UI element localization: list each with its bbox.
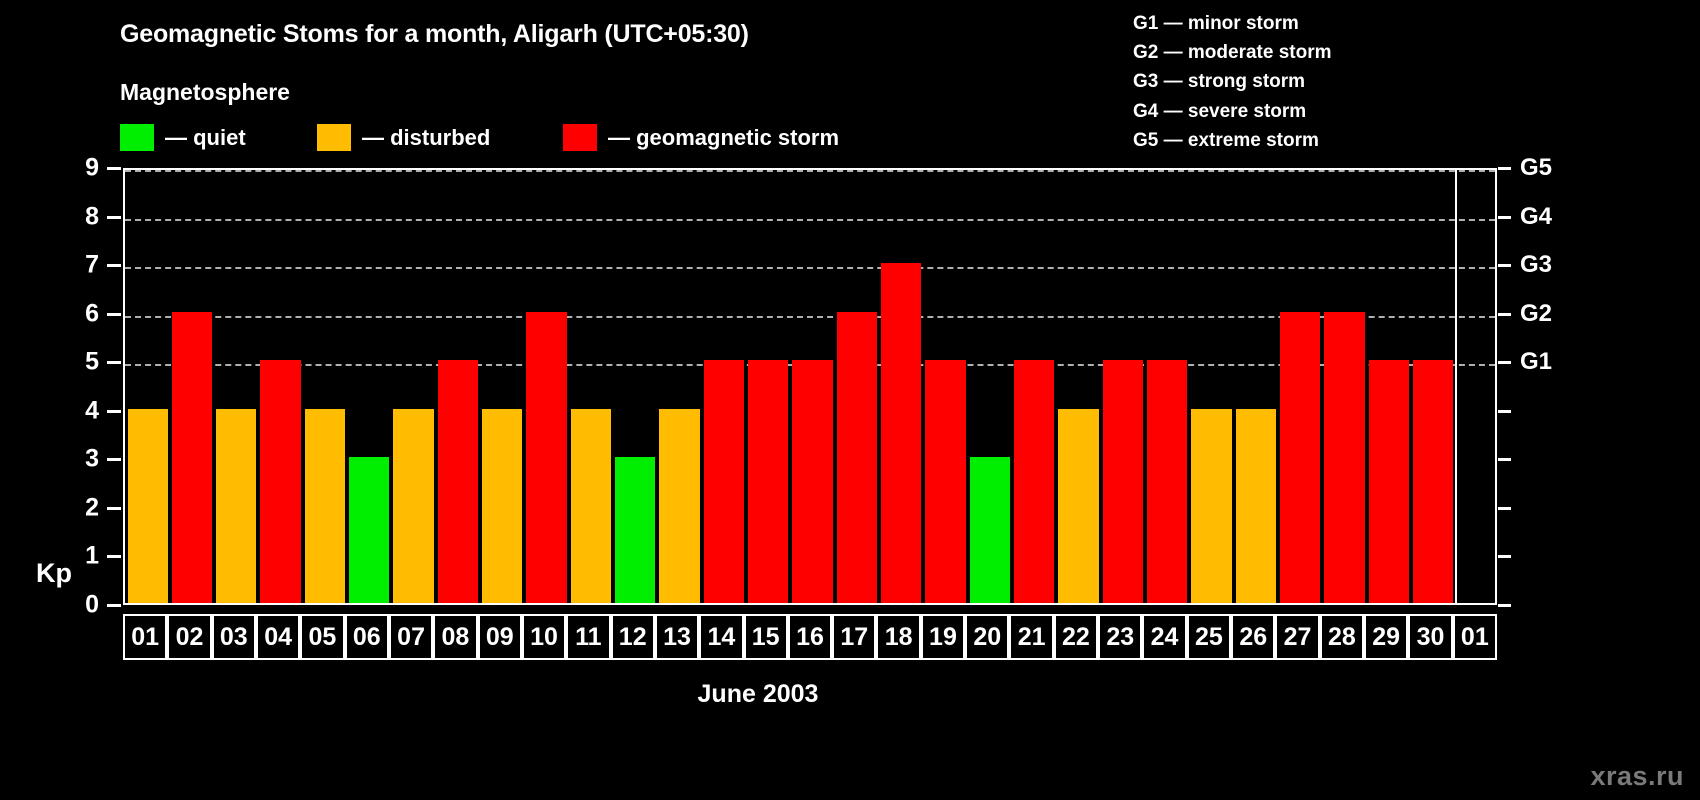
- day-label-28: 29: [1364, 614, 1408, 660]
- y-tick-label-7: 7: [85, 251, 99, 280]
- legend-label-storm: — geomagnetic storm: [608, 124, 839, 151]
- day-label-25: 26: [1231, 614, 1275, 660]
- y-tick-label-0: 0: [85, 591, 99, 620]
- bar-day-22: [1058, 409, 1098, 603]
- y-axis-title: Kp: [36, 558, 72, 589]
- day-label-2: 03: [212, 614, 256, 660]
- bar-day-08: [438, 360, 478, 603]
- g-minor-tick-2: [1498, 507, 1511, 510]
- y-tick-label-6: 6: [85, 299, 99, 328]
- g-tick-mark-G3: [1498, 264, 1511, 267]
- day-label-10: 11: [566, 614, 610, 660]
- day-label-11: 12: [611, 614, 655, 660]
- bar-day-21: [1014, 360, 1054, 603]
- y-tick-mark-2: [107, 507, 121, 510]
- g-scale-row-3: G3 — strong storm: [1133, 67, 1332, 96]
- bar-day-12: [615, 457, 655, 603]
- day-label-0: 01: [123, 614, 167, 660]
- bar-day-15: [748, 360, 788, 603]
- y-tick-label-8: 8: [85, 202, 99, 231]
- g-minor-tick-1: [1498, 555, 1511, 558]
- y-tick-mark-9: [107, 167, 121, 170]
- g-scale-row-1: G1 — minor storm: [1133, 9, 1332, 38]
- day-label-13: 14: [699, 614, 743, 660]
- day-label-7: 08: [433, 614, 477, 660]
- day-label-26: 27: [1275, 614, 1319, 660]
- x-axis-title: June 2003: [0, 680, 1700, 709]
- bar-day-25: [1191, 409, 1231, 603]
- y-tick-mark-5: [107, 361, 121, 364]
- day-label-16: 17: [832, 614, 876, 660]
- g-axis: G1G2G3G4G5: [1497, 168, 1700, 605]
- bar-day-17: [837, 312, 877, 603]
- legend-swatch-disturbed-icon: [317, 124, 351, 151]
- bars-layer: [125, 170, 1495, 603]
- bar-day-19: [925, 360, 965, 603]
- g-minor-tick-4: [1498, 410, 1511, 413]
- bar-day-01: [128, 409, 168, 603]
- bar-day-13: [659, 409, 699, 603]
- g-tick-mark-G4: [1498, 216, 1511, 219]
- day-label-15: 16: [788, 614, 832, 660]
- day-label-19: 20: [965, 614, 1009, 660]
- bar-day-04: [260, 360, 300, 603]
- day-label-21: 22: [1054, 614, 1098, 660]
- bar-day-20: [970, 457, 1010, 603]
- magnetosphere-label: Magnetosphere: [120, 79, 290, 106]
- bar-day-27: [1280, 312, 1320, 603]
- bar-day-03: [216, 409, 256, 603]
- legend-swatch-quiet-icon: [120, 124, 154, 151]
- bar-day-23: [1103, 360, 1143, 603]
- bar-day-18: [881, 263, 921, 603]
- day-label-27: 28: [1320, 614, 1364, 660]
- page-title: Geomagnetic Stoms for a month, Aligarh (…: [120, 20, 749, 49]
- day-label-22: 23: [1098, 614, 1142, 660]
- g-scale-row-4: G4 — severe storm: [1133, 97, 1332, 126]
- bar-day-09: [482, 409, 522, 603]
- bar-day-14: [704, 360, 744, 603]
- bar-day-29: [1369, 360, 1409, 603]
- bar-day-05: [305, 409, 345, 603]
- day-label-1: 02: [167, 614, 211, 660]
- day-label-17: 18: [876, 614, 920, 660]
- bar-day-28: [1324, 312, 1364, 603]
- day-label-29: 30: [1408, 614, 1452, 660]
- g-scale-row-5: G5 — extreme storm: [1133, 126, 1332, 155]
- bar-day-16: [792, 360, 832, 603]
- y-tick-mark-0: [107, 604, 121, 607]
- day-label-14: 15: [744, 614, 788, 660]
- bar-day-06: [349, 457, 389, 603]
- y-tick-mark-3: [107, 458, 121, 461]
- day-label-12: 13: [655, 614, 699, 660]
- y-tick-mark-1: [107, 555, 121, 558]
- g-tick-mark-G1: [1498, 361, 1511, 364]
- g-minor-tick-0: [1498, 604, 1511, 607]
- day-label-6: 07: [389, 614, 433, 660]
- y-tick-label-4: 4: [85, 396, 99, 425]
- plot-area: [123, 168, 1497, 605]
- day-label-3: 04: [256, 614, 300, 660]
- g-scale-legend: G1 — minor stormG2 — moderate stormG3 — …: [1133, 9, 1332, 155]
- g-scale-row-2: G2 — moderate storm: [1133, 38, 1332, 67]
- g-tick-label-G5: G5: [1520, 154, 1552, 182]
- day-label-8: 09: [478, 614, 522, 660]
- bar-day-02: [172, 312, 212, 603]
- y-tick-mark-7: [107, 264, 121, 267]
- y-tick-label-9: 9: [85, 154, 99, 183]
- legend-item-disturbed: — disturbed: [317, 124, 490, 151]
- g-tick-label-G4: G4: [1520, 203, 1552, 231]
- y-tick-mark-4: [107, 410, 121, 413]
- x-axis-day-labels: 0102030405060708091011121314151617181920…: [123, 614, 1497, 660]
- day-label-30: 01: [1453, 614, 1497, 660]
- bar-day-30: [1413, 360, 1453, 603]
- bar-day-07: [393, 409, 433, 603]
- bar-day-10: [526, 312, 566, 603]
- day-label-9: 10: [522, 614, 566, 660]
- y-tick-mark-8: [107, 216, 121, 219]
- y-tick-label-1: 1: [85, 542, 99, 571]
- day-label-18: 19: [921, 614, 965, 660]
- y-tick-label-3: 3: [85, 445, 99, 474]
- day-label-24: 25: [1187, 614, 1231, 660]
- watermark: xras.ru: [1590, 761, 1684, 792]
- g-tick-mark-G2: [1498, 313, 1511, 316]
- day-label-4: 05: [300, 614, 344, 660]
- g-minor-tick-3: [1498, 458, 1511, 461]
- g-tick-label-G2: G2: [1520, 300, 1552, 328]
- legend-label-quiet: — quiet: [165, 124, 246, 151]
- g-tick-label-G3: G3: [1520, 251, 1552, 279]
- day-label-23: 24: [1142, 614, 1186, 660]
- legend-item-storm: — geomagnetic storm: [563, 124, 839, 151]
- y-axis: Kp 0123456789: [0, 168, 123, 605]
- day-label-20: 21: [1009, 614, 1053, 660]
- bar-day-24: [1147, 360, 1187, 603]
- bar-day-26: [1236, 409, 1276, 603]
- y-tick-label-2: 2: [85, 493, 99, 522]
- legend-swatch-storm-icon: [563, 124, 597, 151]
- y-tick-mark-6: [107, 313, 121, 316]
- day-label-5: 06: [345, 614, 389, 660]
- g-tick-label-G1: G1: [1520, 348, 1552, 376]
- legend-item-quiet: — quiet: [120, 124, 246, 151]
- bar-day-11: [571, 409, 611, 603]
- legend-label-disturbed: — disturbed: [362, 124, 490, 151]
- g-tick-mark-G5: [1498, 167, 1511, 170]
- y-tick-label-5: 5: [85, 348, 99, 377]
